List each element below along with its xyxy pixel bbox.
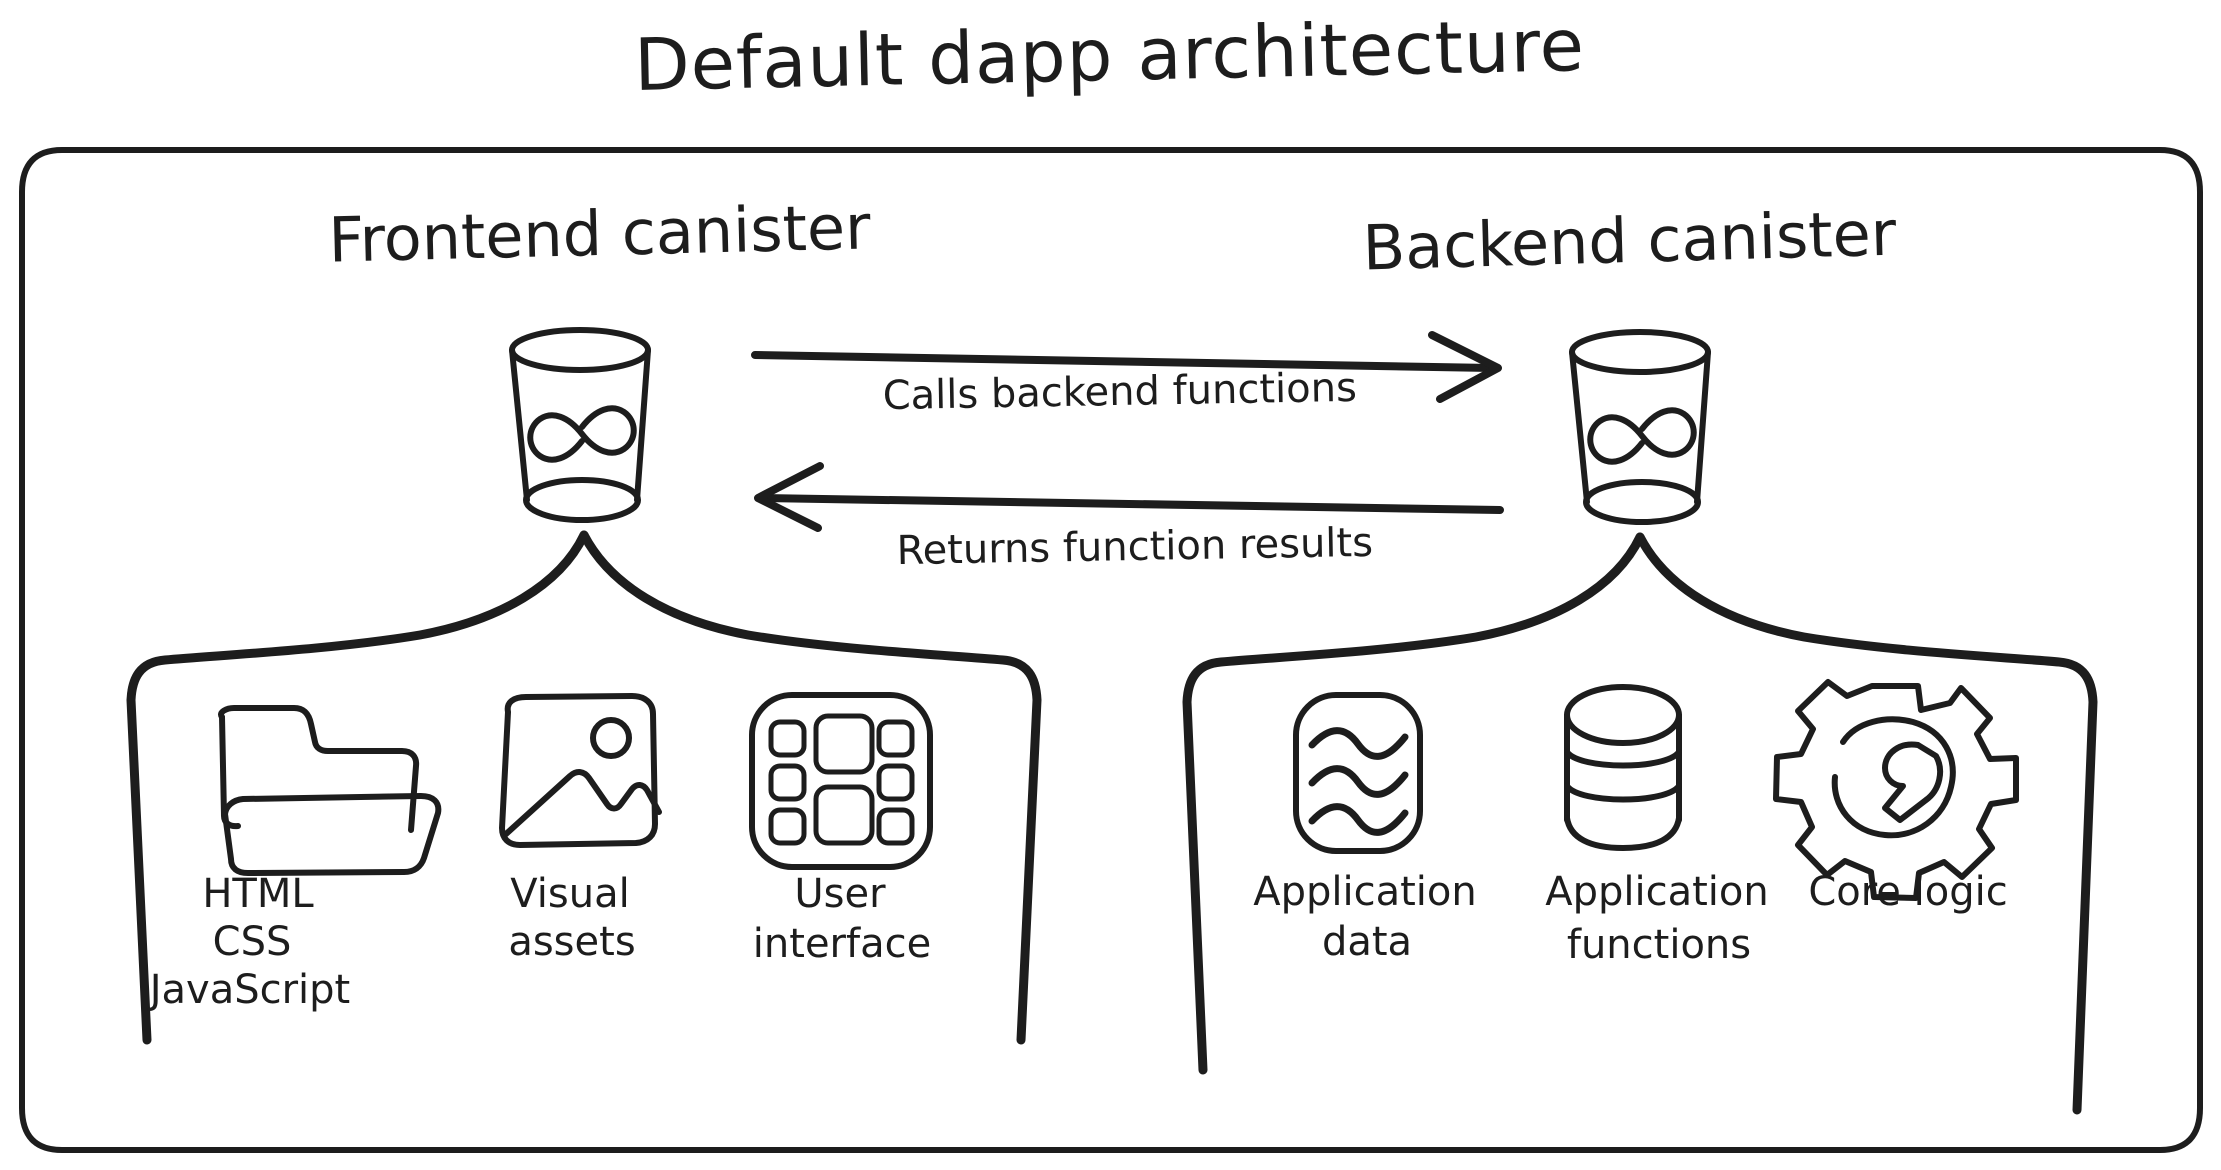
backend-item-core-logic: Core logic [1776, 682, 2016, 915]
calls-backend-arrow-label: Calls backend functions [882, 365, 1357, 419]
infinity-icon [530, 408, 634, 459]
frontend-item-image: Visual assets [502, 696, 659, 965]
backend-item-data-label-line-2: data [1322, 919, 1412, 965]
gear-wrench-icon [1776, 682, 2016, 898]
frontend-canister-icon [512, 330, 648, 520]
infinity-icon [1590, 410, 1694, 461]
frontend-item-user-interface: User interface [752, 695, 931, 967]
backend-item-functions-label-line-1: Application [1545, 869, 1769, 915]
frontend-item-folder-label-line-3: JavaScript [147, 967, 351, 1013]
database-cylinder-icon [1567, 687, 1679, 848]
frontend-item-ui-label-line-2: interface [753, 921, 931, 967]
frontend-section-title: Frontend canister [328, 190, 872, 276]
diagram-title: Default dapp architecture [633, 3, 1585, 107]
backend-item-data-label-line-1: Application [1253, 869, 1477, 915]
backend-item-application-data: Application data [1253, 695, 1477, 965]
frontend-item-folder: HTML CSS JavaScript [147, 708, 439, 1013]
backend-canister-icon [1572, 332, 1708, 522]
frontend-item-image-label-line-2: assets [508, 919, 635, 965]
folder-icon [221, 708, 438, 873]
user-interface-icon [752, 695, 930, 867]
frontend-item-ui-label-line-1: User [794, 871, 886, 917]
diagram-canvas: Default dapp architecture Frontend canis… [0, 0, 2221, 1170]
backend-section-title: Backend canister [1362, 197, 1898, 285]
returns-results-arrow-label: Returns function results [896, 520, 1373, 574]
image-icon [502, 696, 659, 845]
architecture-diagram: Default dapp architecture Frontend canis… [0, 0, 2221, 1170]
backend-brace [1187, 537, 2093, 1110]
backend-item-core-logic-label-line-1: Core logic [1808, 869, 2007, 915]
frontend-item-image-label-line-1: Visual [510, 871, 629, 917]
data-waves-icon [1296, 695, 1420, 851]
backend-item-application-functions: Application functions [1545, 687, 1769, 968]
backend-item-functions-label-line-2: functions [1567, 922, 1751, 968]
frontend-item-folder-label-line-2: CSS [213, 919, 292, 965]
returns-results-arrow [758, 466, 1500, 528]
frontend-item-folder-label-line-1: HTML [202, 871, 314, 917]
